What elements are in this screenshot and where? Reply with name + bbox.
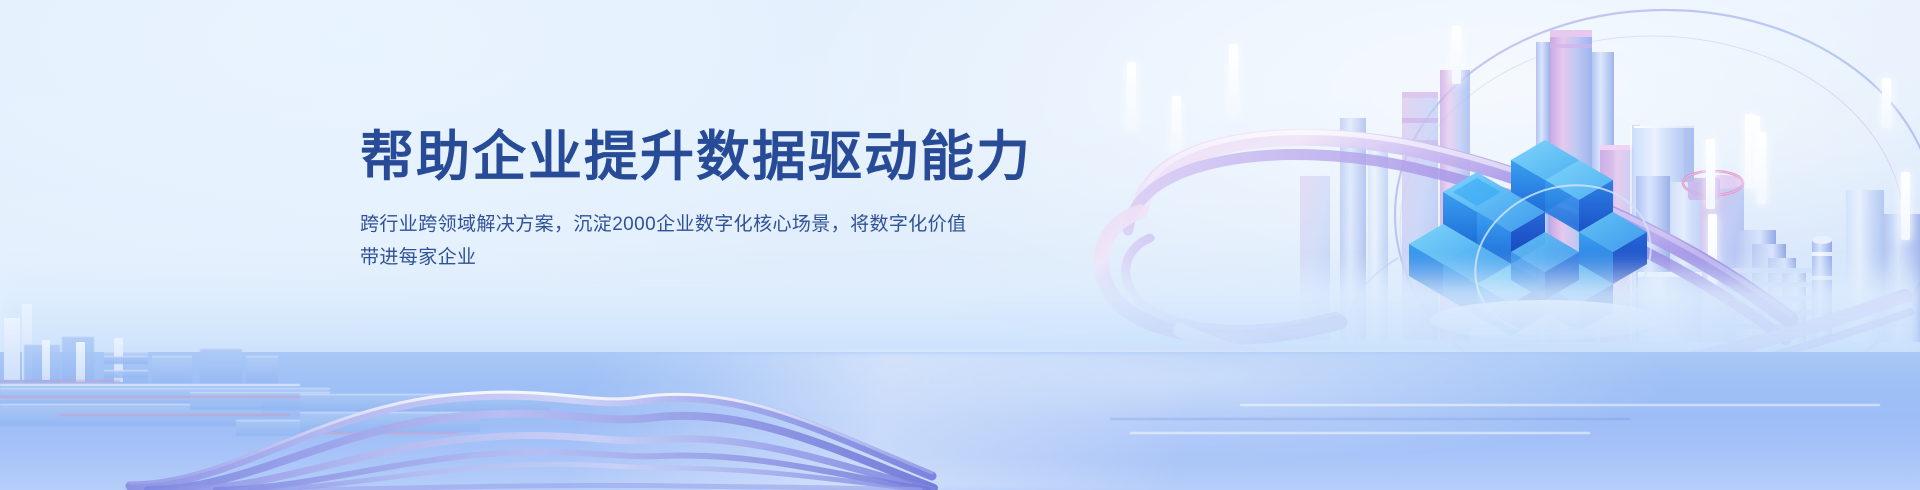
banner-subtitle: 跨行业跨领域解决方案，沉淀2000企业数字化核心场景，将数字化价值 带进每家企业 [360,209,1000,274]
subtitle-line-1: 跨行业跨领域解决方案，沉淀2000企业数字化核心场景，将数字化价值 [360,214,966,235]
left-tower-4 [76,342,85,382]
floor-highlight-3 [1110,418,1630,420]
left-accent-line-3 [0,380,120,382]
left-tower-1 [4,318,20,380]
floor-highlight-4 [1130,432,1590,434]
swooping-ribbon-bridge [120,300,940,490]
left-tower-3 [42,340,50,380]
subtitle-line-2: 带进每家企业 [360,247,476,268]
page-title: 帮助企业提升数据驱动能力 [360,128,1000,187]
hero-banner: 帮助企业提升数据驱动能力 跨行业跨领域解决方案，沉淀2000企业数字化核心场景，… [0,0,1920,490]
banner-copy: 帮助企业提升数据驱动能力 跨行业跨领域解决方案，沉淀2000企业数字化核心场景，… [360,128,1000,275]
circular-pedestal [1430,300,1660,340]
floor-highlight-5 [1240,404,1880,406]
